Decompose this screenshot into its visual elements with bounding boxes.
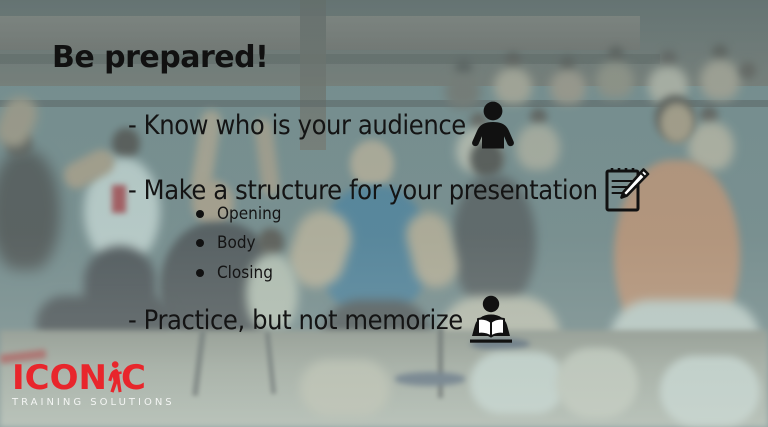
bullet-text: - Practice, but not memorize [128, 305, 463, 336]
logo-word-part1: ICON [12, 361, 107, 395]
logo-word-part2: C [121, 361, 146, 395]
sub-bullet-text: Opening [217, 204, 282, 224]
bullet-know-audience: - Know who is your audience [128, 100, 516, 150]
runner-figure-icon [106, 360, 122, 394]
sub-bullet-text: Closing [217, 263, 273, 283]
iconic-logo: ICON C TRAINING SOLUTIONS [12, 360, 177, 408]
bullet-practice-not-memorize: - Practice, but not memorize [128, 295, 515, 345]
bullet-text: - Know who is your audience [128, 110, 466, 141]
logo-tagline: TRAINING SOLUTIONS [12, 397, 177, 408]
sub-bullet-opening: Opening [196, 204, 282, 224]
standing-person-icon [470, 100, 516, 150]
bullet-dot-icon [196, 269, 204, 277]
notepad-pencil-icon [602, 164, 652, 216]
sub-bullet-text: Body [217, 233, 256, 253]
bullet-dot-icon [196, 210, 204, 218]
person-reading-icon [467, 295, 515, 345]
sub-bullet-closing: Closing [196, 263, 273, 283]
logo-wordmark: ICON C [12, 360, 177, 395]
bullet-dot-icon [196, 239, 204, 247]
slide-title: Be prepared! [52, 40, 268, 75]
presentation-slide: Be prepared! - Know who is your audience… [0, 0, 768, 427]
slide-content: Be prepared! - Know who is your audience… [0, 0, 768, 427]
sub-bullet-body: Body [196, 233, 256, 253]
bullet-text: - Make a structure for your presentation [128, 175, 598, 206]
